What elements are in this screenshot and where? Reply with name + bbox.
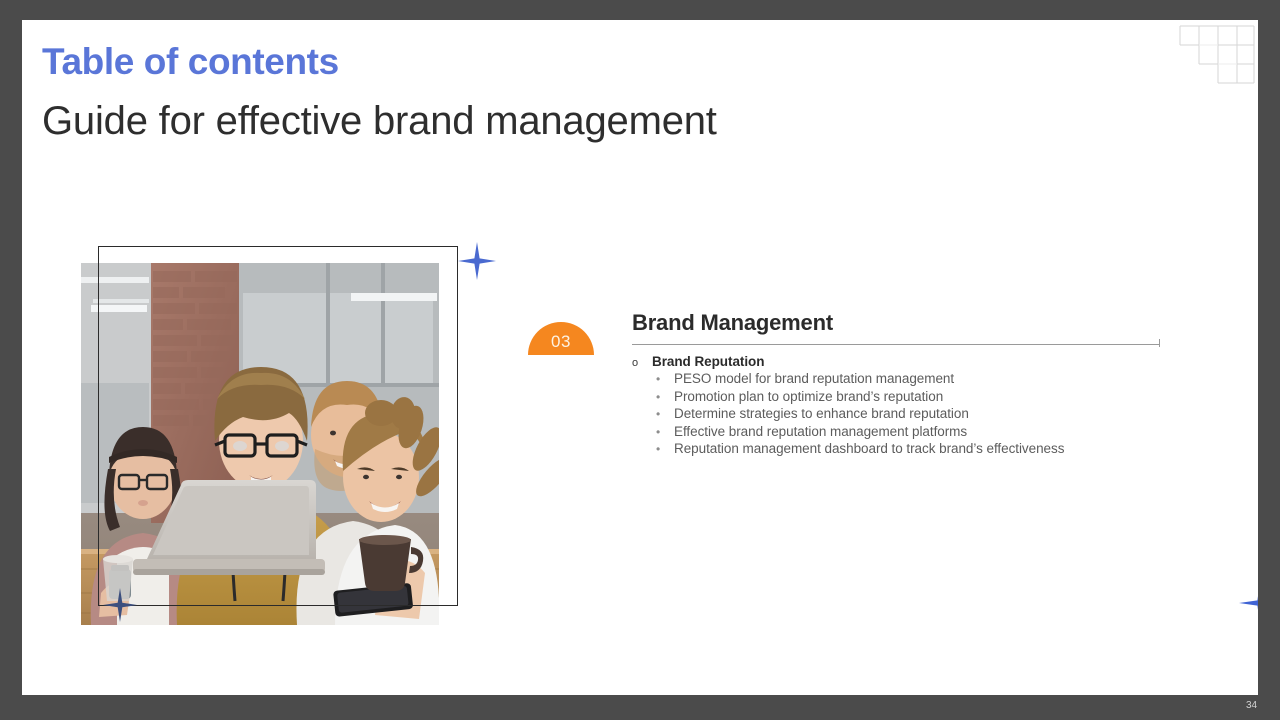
dot-bullet-icon: • <box>656 443 674 455</box>
screenshot-stage: Table of contents Guide for effective br… <box>0 0 1280 720</box>
list-item: • Effective brand reputation management … <box>656 424 1172 439</box>
team-photo-illustration <box>81 263 439 625</box>
section-title: Brand Management <box>632 310 833 336</box>
sparkle-glyph <box>1237 580 1258 626</box>
list-item-label: Reputation management dashboard to track… <box>674 441 1064 456</box>
section-divider-endcap <box>1159 339 1160 347</box>
dot-bullet-icon: • <box>656 426 674 438</box>
presentation-slide: Table of contents Guide for effective br… <box>22 20 1258 695</box>
list-item: • Promotion plan to optimize brand’s rep… <box>656 389 1172 404</box>
sparkle-icon-top-right <box>458 242 496 285</box>
decorative-grid-icon <box>1176 20 1258 100</box>
list-group-header: o Brand Reputation <box>632 354 1172 369</box>
list-item: • Reputation management dashboard to tra… <box>656 441 1172 456</box>
team-photo <box>81 263 439 625</box>
dot-bullet-icon: • <box>656 373 674 385</box>
list-item-label: PESO model for brand reputation manageme… <box>674 371 954 386</box>
circle-bullet-icon: o <box>632 358 652 369</box>
page-number: 34 <box>1246 700 1257 711</box>
list-item: • Determine strategies to enhance brand … <box>656 406 1172 421</box>
list-group-label: Brand Reputation <box>652 354 764 369</box>
bullet-list: o Brand Reputation • PESO model for bran… <box>632 354 1172 459</box>
sparkle-glyph <box>458 242 496 280</box>
section-divider <box>632 344 1160 345</box>
sparkle-icon-right-edge <box>1237 580 1258 631</box>
dot-bullet-icon: • <box>656 408 674 420</box>
list-item: • PESO model for brand reputation manage… <box>656 371 1172 386</box>
decorative-grid <box>1176 20 1258 105</box>
list-item-label: Determine strategies to enhance brand re… <box>674 406 969 421</box>
list-item-label: Effective brand reputation management pl… <box>674 424 967 439</box>
page-title: Guide for effective brand management <box>42 99 717 144</box>
list-item-label: Promotion plan to optimize brand’s reput… <box>674 389 943 404</box>
page-eyebrow-title: Table of contents <box>42 41 339 83</box>
dot-bullet-icon: • <box>656 391 674 403</box>
section-number-badge: 03 <box>528 322 594 355</box>
